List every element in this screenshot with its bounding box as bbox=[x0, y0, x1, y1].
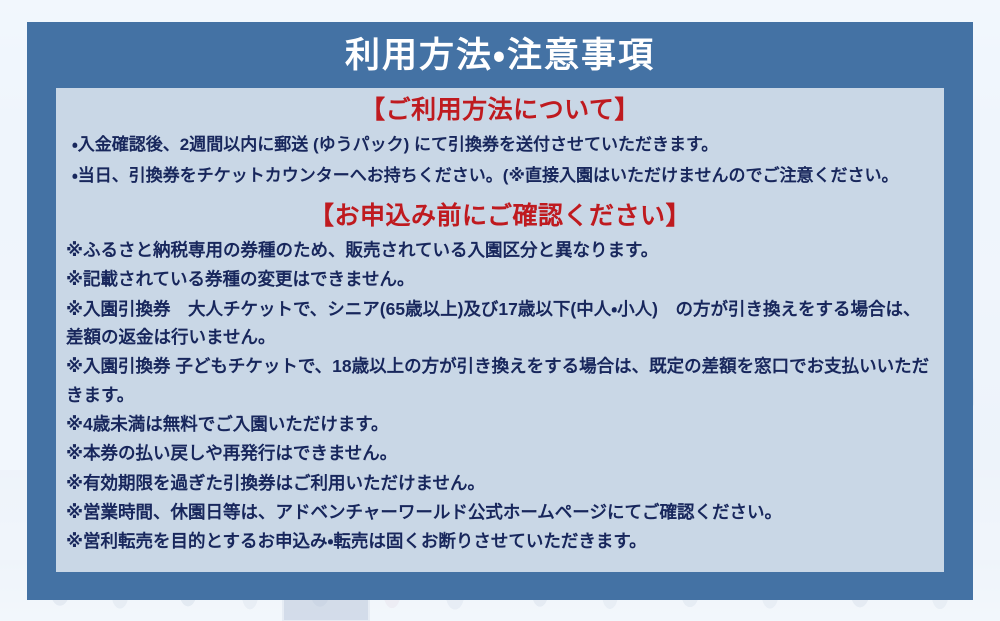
list-item: ※営業時間、休園日等は、アドベンチャーワールド公式ホームページにてご確認ください… bbox=[66, 498, 934, 526]
list-item: ※入園引換券 子どもチケットで、18歳以上の方が引き換えをする場合は、既定の差額… bbox=[66, 352, 934, 409]
poster-canvas: ADVENTURE WORLD 🐒 🐼 🦓 🐧 🦁 🦛 🐧 🦩 🐘 Welcom… bbox=[0, 0, 1000, 621]
poster-frame: 利用方法・注意事項 【ご利用方法について】 ・入金確認後、2週間以内に郵送 (ゆ… bbox=[27, 22, 973, 600]
list-item: ※4歳未満は無料でご入園いただけます。 bbox=[66, 410, 934, 438]
list-item: ※本券の払い戻しや再発行はできません。 bbox=[66, 439, 934, 467]
content-panel: 【ご利用方法について】 ・入金確認後、2週間以内に郵送 (ゆうパック) にて引換… bbox=[56, 88, 944, 572]
list-item: ※有効期限を過ぎた引換券はご利用いただけません。 bbox=[66, 469, 934, 497]
list-item: ・当日、引換券をチケットカウンターへお持ちください。(※直接入園はいただけません… bbox=[66, 161, 934, 191]
list-item: ※記載されている券種の変更はできません。 bbox=[66, 265, 934, 293]
list-item: ※入園引換券 大人チケットで、シニア(65歳以上)及び17歳以下(中人・小人) … bbox=[66, 295, 934, 352]
list-item: ※ふるさと納税専用の券種のため、販売されている入園区分と異なります。 bbox=[66, 236, 934, 264]
notice-list: ※ふるさと納税専用の券種のため、販売されている入園区分と異なります。 ※記載され… bbox=[66, 236, 934, 556]
title-bar: 利用方法・注意事項 bbox=[27, 22, 973, 88]
list-item: ・入金確認後、2週間以内に郵送 (ゆうパック) にて引換券を送付させていただきま… bbox=[66, 130, 934, 160]
usage-section-heading: 【ご利用方法について】 bbox=[66, 95, 934, 126]
list-item: ※営利転売を目的とするお申込み・転売は固くお断りさせていただきます。 bbox=[66, 527, 934, 555]
usage-list: ・入金確認後、2週間以内に郵送 (ゆうパック) にて引換券を送付させていただきま… bbox=[66, 130, 934, 191]
page-title: 利用方法・注意事項 bbox=[345, 38, 655, 73]
confirm-section-heading: 【お申込み前にご確認ください】 bbox=[66, 201, 934, 232]
